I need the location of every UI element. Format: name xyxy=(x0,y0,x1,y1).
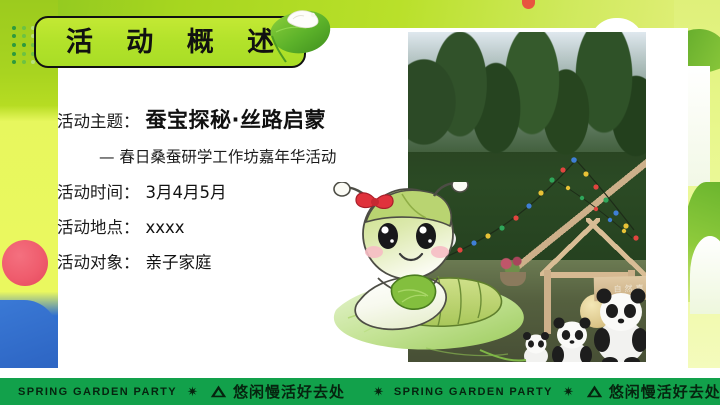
footer-segment: SPRING GARDEN PARTY ✷ 悠闲慢活好去处 xyxy=(0,381,345,402)
star-icon: ✷ xyxy=(563,385,574,398)
detail-value: 3月4月5月 xyxy=(146,179,227,203)
mulberry-leaf-with-silkworm-icon xyxy=(262,6,334,64)
panda-plush-large-icon xyxy=(590,284,646,362)
footer-cn-text: 悠闲慢活好去处 xyxy=(233,381,345,402)
footer-en-text: SPRING GARDEN PARTY xyxy=(394,386,553,398)
activity-subtitle: — 春日桑蚕研学工作坊嘉年华活动 xyxy=(99,145,387,167)
footer-marquee: SPRING GARDEN PARTY ✷ 悠闲慢活好去处 ✷ SPRING G… xyxy=(0,378,720,405)
right-white-curve-accent-2 xyxy=(690,236,720,314)
footer-en-text: SPRING GARDEN PARTY xyxy=(18,386,177,398)
card-bottom-spacer xyxy=(0,368,720,378)
detail-value: 亲子家庭 xyxy=(146,249,212,273)
red-circle-accent-icon xyxy=(2,240,48,286)
panda-plush-small-icon xyxy=(550,316,594,362)
star-icon: ✷ xyxy=(373,385,384,398)
detail-value: 蚕宝探秘·丝路启蒙 xyxy=(146,104,326,134)
detail-label: 活动对象： xyxy=(57,249,140,273)
star-icon: ✷ xyxy=(187,385,198,398)
footer-cn-text: 悠闲慢活好去处 xyxy=(609,381,720,402)
triangle-mountain-logo-icon xyxy=(586,385,603,398)
slide-canvas: 活 动 概 述 活动主题： 蚕宝探秘·丝路启蒙 — 春日桑蚕研学工作坊嘉年华活动… xyxy=(0,0,720,405)
detail-row-theme: 活动主题： 蚕宝探秘·丝路启蒙 xyxy=(57,104,387,134)
footer-segment: ✷ SPRING GARDEN PARTY ✷ 悠闲慢活好去处 xyxy=(345,381,720,402)
held-mulberry-leaf-icon xyxy=(391,275,435,309)
page-title: 活 动 概 述 xyxy=(54,29,286,56)
detail-label: 活动主题： xyxy=(57,108,140,132)
detail-label: 活动时间： xyxy=(57,179,140,203)
triangle-mountain-logo-icon xyxy=(210,385,227,398)
silkworm-mascot xyxy=(330,182,540,364)
detail-value: xxxx xyxy=(146,218,185,237)
detail-label: 活动地点： xyxy=(57,214,140,238)
